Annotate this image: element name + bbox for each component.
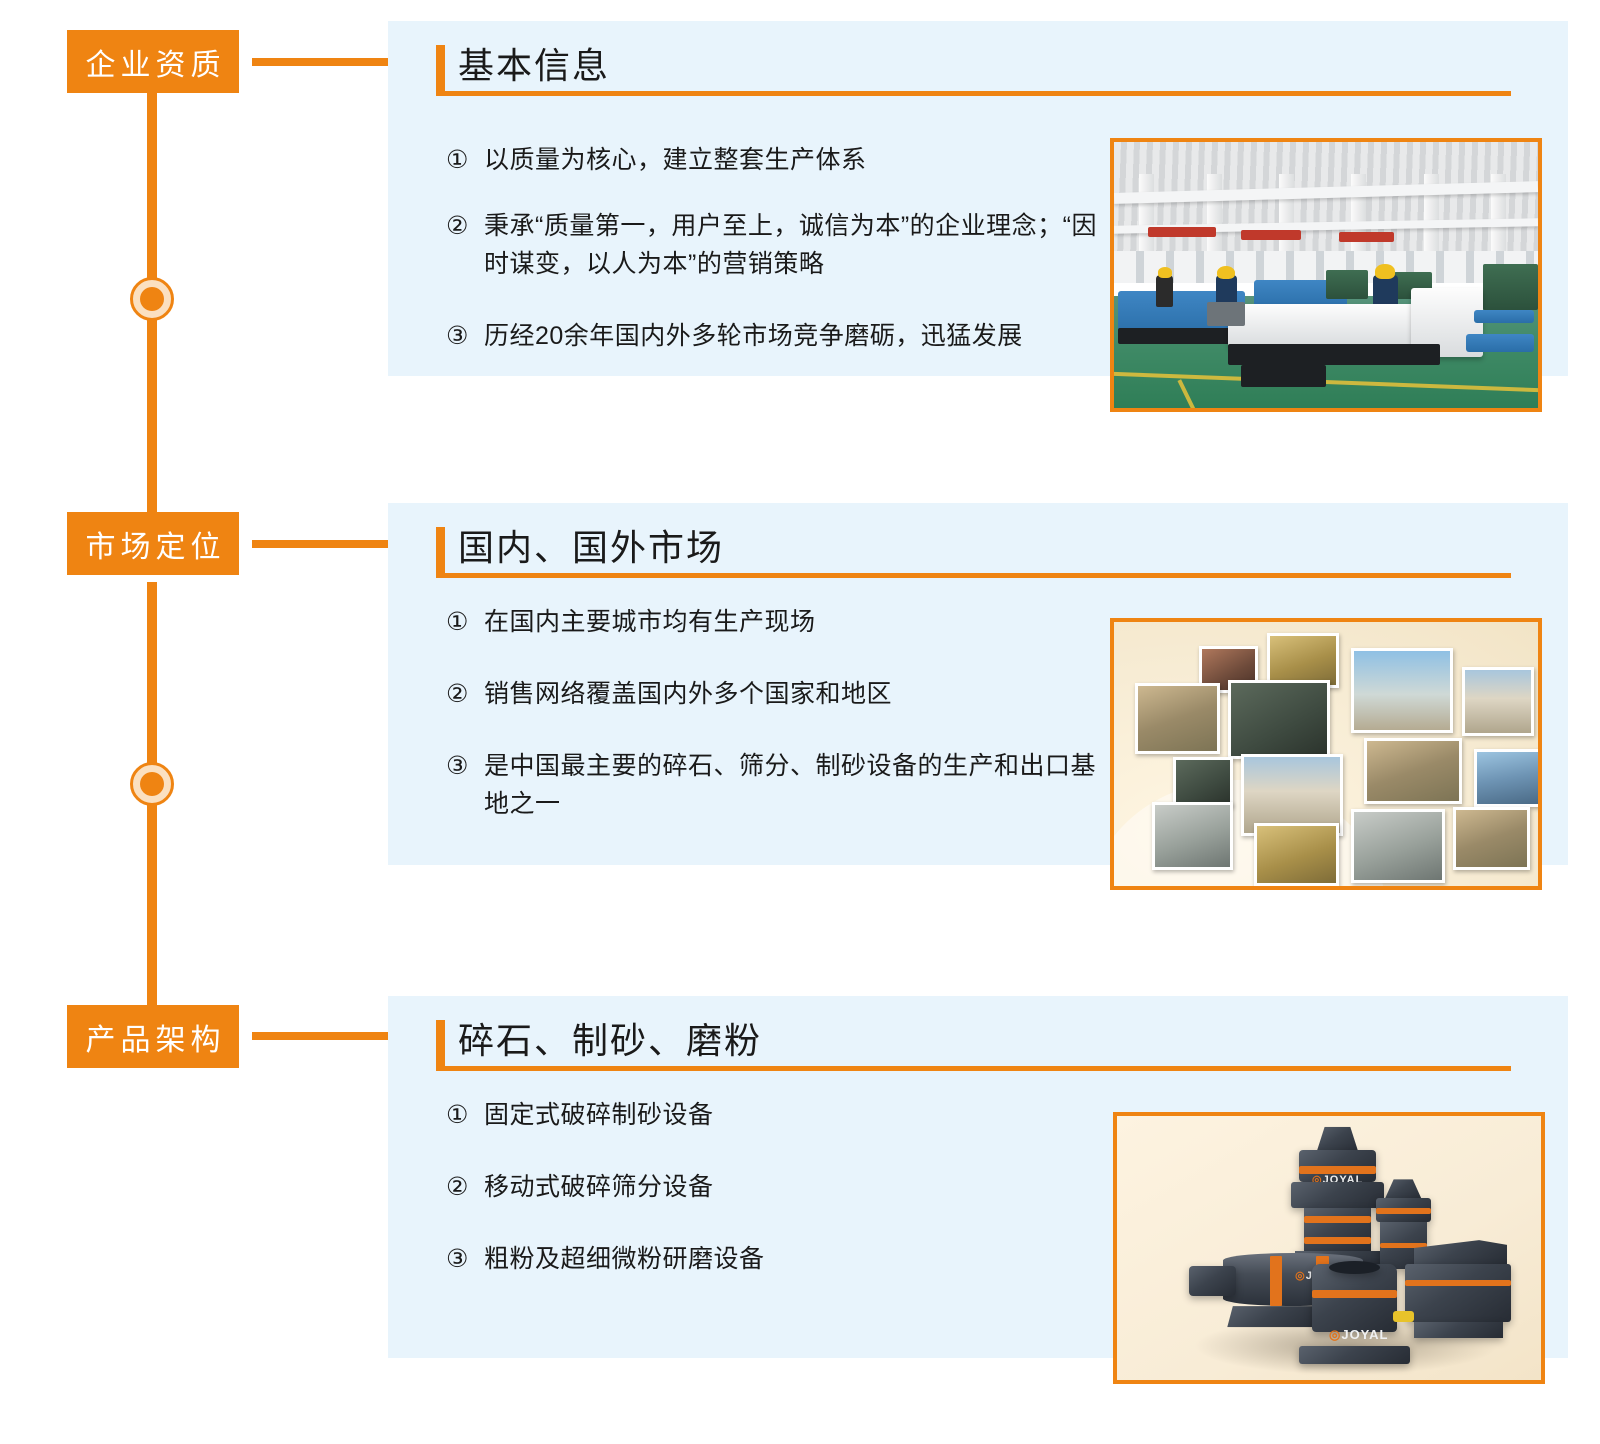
stage-label-text: 产品架构 [81, 1015, 226, 1059]
heading-underline [436, 573, 1511, 578]
heading-accent-bar-icon [436, 527, 445, 573]
bullet-list-3: ① 固定式破碎制砂设备 ② 移动式破碎筛分设备 ③ 粗粉及超细微粉研磨设备 [446, 1096, 1106, 1306]
list-item-text: 秉承“质量第一，用户至上，诚信为本”的企业理念；“因时谋变，以人为本”的营销策略 [484, 207, 1106, 283]
list-marker-icon: ① [446, 603, 484, 641]
list-marker-icon: ② [446, 675, 484, 713]
project-collage-image [1114, 622, 1538, 886]
heading-accent-bar-icon [436, 1020, 445, 1066]
list-item: ③ 粗粉及超细微粉研磨设备 [446, 1240, 1106, 1278]
list-item-text: 销售网络覆盖国内外多个国家和地区 [484, 675, 1106, 713]
list-item-text: 粗粉及超细微粉研磨设备 [484, 1240, 1106, 1278]
factory-workshop-photo [1110, 138, 1542, 412]
chip-connector-2 [252, 540, 388, 548]
list-marker-icon: ③ [446, 317, 484, 355]
chip-connector-3 [252, 1032, 388, 1040]
list-item: ② 移动式破碎筛分设备 [446, 1168, 1106, 1206]
panel-heading-2: 国内、国外市场 [436, 525, 1511, 578]
factory-workshop-image [1114, 142, 1538, 408]
equipment-lineup-photo: ◎JOYAL ◎JOYAL ◎JOYAL [1113, 1112, 1545, 1384]
list-item: ② 销售网络覆盖国内外多个国家和地区 [446, 675, 1106, 713]
list-item-text: 是中国最主要的碎石、筛分、制砂设备的生产和出口基地之一 [484, 747, 1106, 823]
panel-heading-text: 碎石、制砂、磨粉 [436, 1018, 762, 1071]
list-marker-icon: ③ [446, 1240, 484, 1278]
list-item: ① 固定式破碎制砂设备 [446, 1096, 1106, 1134]
panel-heading-text: 国内、国外市场 [436, 525, 724, 578]
stage-label-enterprise-qualification[interactable]: 企业资质 [67, 30, 239, 93]
panel-heading-3: 碎石、制砂、磨粉 [436, 1018, 1511, 1071]
heading-underline [436, 1066, 1511, 1071]
list-item: ① 以质量为核心，建立整套生产体系 [446, 141, 1106, 179]
list-item: ③ 历经20余年国内外多轮市场竞争磨砺，迅猛发展 [446, 317, 1106, 355]
stage-label-text: 企业资质 [81, 40, 226, 84]
list-marker-icon: ① [446, 141, 484, 179]
list-item-text: 以质量为核心，建立整套生产体系 [484, 141, 1106, 179]
list-item-text: 历经20余年国内外多轮市场竞争磨砺，迅猛发展 [484, 317, 1106, 355]
timeline-node-marker-2 [130, 762, 174, 806]
stage-label-product-architecture[interactable]: 产品架构 [67, 1005, 239, 1068]
list-marker-icon: ③ [446, 747, 484, 785]
list-marker-icon: ② [446, 1168, 484, 1206]
timeline-node-marker-1 [130, 277, 174, 321]
panel-heading-1: 基本信息 [436, 43, 1511, 96]
equipment-lineup-image: ◎JOYAL ◎JOYAL ◎JOYAL [1117, 1116, 1541, 1380]
chip-connector-1 [252, 58, 388, 66]
infographic-canvas: 企业资质 市场定位 产品架构 基本信息 ① 以质量为核心，建立整套生产体系 ② … [0, 0, 1600, 1444]
stage-label-text: 市场定位 [81, 522, 226, 566]
list-item-text: 移动式破碎筛分设备 [484, 1168, 1106, 1206]
list-marker-icon: ① [446, 1096, 484, 1134]
stage-label-market-positioning[interactable]: 市场定位 [67, 512, 239, 575]
list-item-text: 固定式破碎制砂设备 [484, 1096, 1106, 1134]
bullet-list-2: ① 在国内主要城市均有生产现场 ② 销售网络覆盖国内外多个国家和地区 ③ 是中国… [446, 603, 1106, 851]
heading-accent-bar-icon [436, 45, 445, 91]
list-item: ③ 是中国最主要的碎石、筛分、制砂设备的生产和出口基地之一 [446, 747, 1106, 823]
list-item: ① 在国内主要城市均有生产现场 [446, 603, 1106, 641]
bullet-list-1: ① 以质量为核心，建立整套生产体系 ② 秉承“质量第一，用户至上，诚信为本”的企… [446, 141, 1106, 383]
project-collage-photo [1110, 618, 1542, 890]
panel-heading-text: 基本信息 [436, 43, 610, 96]
list-item: ② 秉承“质量第一，用户至上，诚信为本”的企业理念；“因时谋变，以人为本”的营销… [446, 207, 1106, 283]
heading-underline [436, 91, 1511, 96]
list-marker-icon: ② [446, 207, 484, 245]
list-item-text: 在国内主要城市均有生产现场 [484, 603, 1106, 641]
